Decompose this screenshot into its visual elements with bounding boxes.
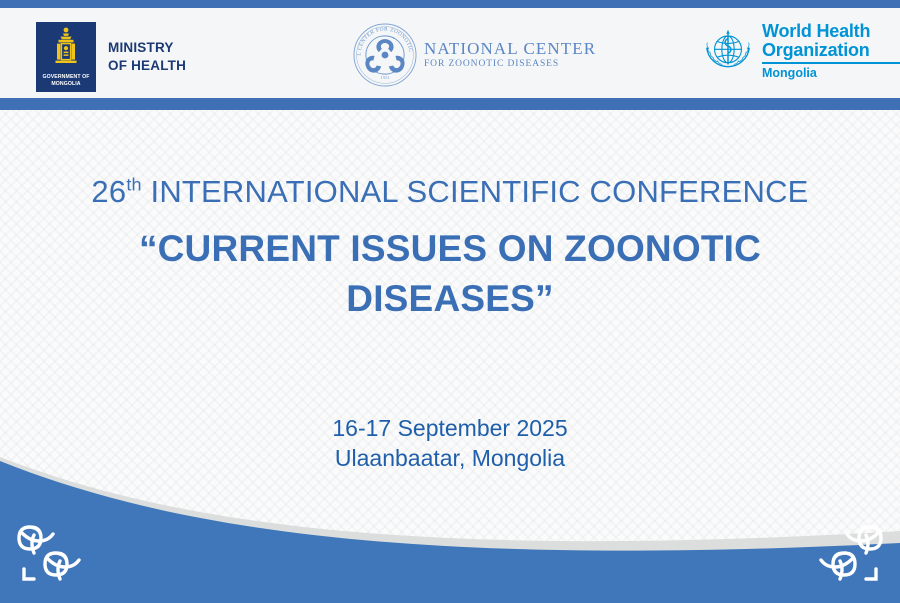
- conference-ordinal-suffix: th: [126, 175, 141, 195]
- seal-year: 1931: [380, 75, 390, 80]
- who-divider-rule: [762, 62, 900, 64]
- ministry-of-health-logo: GOVERNMENT OF MONGOLIA MINISTRY OF HEALT…: [36, 22, 186, 92]
- svg-text:NATIONAL CENTER FOR ZOONOTIC D: NATIONAL CENTER FOR ZOONOTIC DISEASES: [352, 22, 413, 56]
- who-name-line2: Organization: [762, 41, 900, 60]
- who-mongolia-logo: World Health Organization Mongolia: [700, 22, 900, 80]
- who-emblem-icon: [700, 23, 756, 79]
- seal-ring-text: NATIONAL CENTER FOR ZOONOTIC DISEASES: [352, 22, 413, 56]
- bottom-wave-decoration: [0, 443, 900, 603]
- emblem-caption-line2: MONGOLIA: [51, 81, 80, 87]
- biohazard-icon: [365, 39, 404, 72]
- ministry-name-line2: OF HEALTH: [108, 58, 186, 73]
- conference-theme-line1: “CURRENT ISSUES ON ZOONOTIC: [0, 224, 900, 274]
- header-divider-bar: [0, 98, 900, 110]
- ministry-name: MINISTRY OF HEALTH: [108, 39, 186, 75]
- ministry-name-line1: MINISTRY: [108, 40, 174, 55]
- who-country-label: Mongolia: [762, 66, 900, 80]
- emblem-caption-line1: GOVERNMENT OF: [42, 74, 89, 80]
- event-date: 16-17 September 2025: [0, 413, 900, 443]
- who-name-line1: World Health: [762, 22, 900, 41]
- conference-theme-line2: DISEASES”: [0, 274, 900, 324]
- nczd-seal-icon: NATIONAL CENTER FOR ZOONOTIC DISEASES 19…: [352, 22, 418, 88]
- title-block: 26th INTERNATIONAL SCIENTIFIC CONFERENCE…: [0, 170, 900, 324]
- national-center-name-line2: FOR ZOONOTIC DISEASES: [424, 60, 596, 70]
- mongolia-government-emblem: GOVERNMENT OF MONGOLIA: [36, 22, 96, 92]
- soyombo-icon: [49, 26, 83, 74]
- national-center-name-line1: NATIONAL CENTER: [424, 40, 596, 58]
- national-center-zoonotic-diseases-logo: NATIONAL CENTER FOR ZOONOTIC DISEASES 19…: [352, 22, 596, 88]
- mongolian-knot-ornament-right: [812, 517, 886, 591]
- conference-title: 26th INTERNATIONAL SCIENTIFIC CONFERENCE: [0, 170, 900, 214]
- conference-ordinal-number: 26: [91, 174, 126, 209]
- wave-blue-shape: [0, 461, 900, 603]
- conference-title-slide: GOVERNMENT OF MONGOLIA MINISTRY OF HEALT…: [0, 0, 900, 603]
- conference-title-rest: INTERNATIONAL SCIENTIFIC CONFERENCE: [142, 174, 809, 209]
- conference-theme: “CURRENT ISSUES ON ZOONOTIC DISEASES”: [0, 224, 900, 324]
- who-name: World Health Organization Mongolia: [762, 22, 900, 80]
- national-center-name: NATIONAL CENTER FOR ZOONOTIC DISEASES: [424, 40, 596, 70]
- top-accent-strip: [0, 0, 900, 8]
- mongolian-knot-ornament-left: [14, 517, 88, 591]
- emblem-caption: GOVERNMENT OF MONGOLIA: [36, 74, 96, 88]
